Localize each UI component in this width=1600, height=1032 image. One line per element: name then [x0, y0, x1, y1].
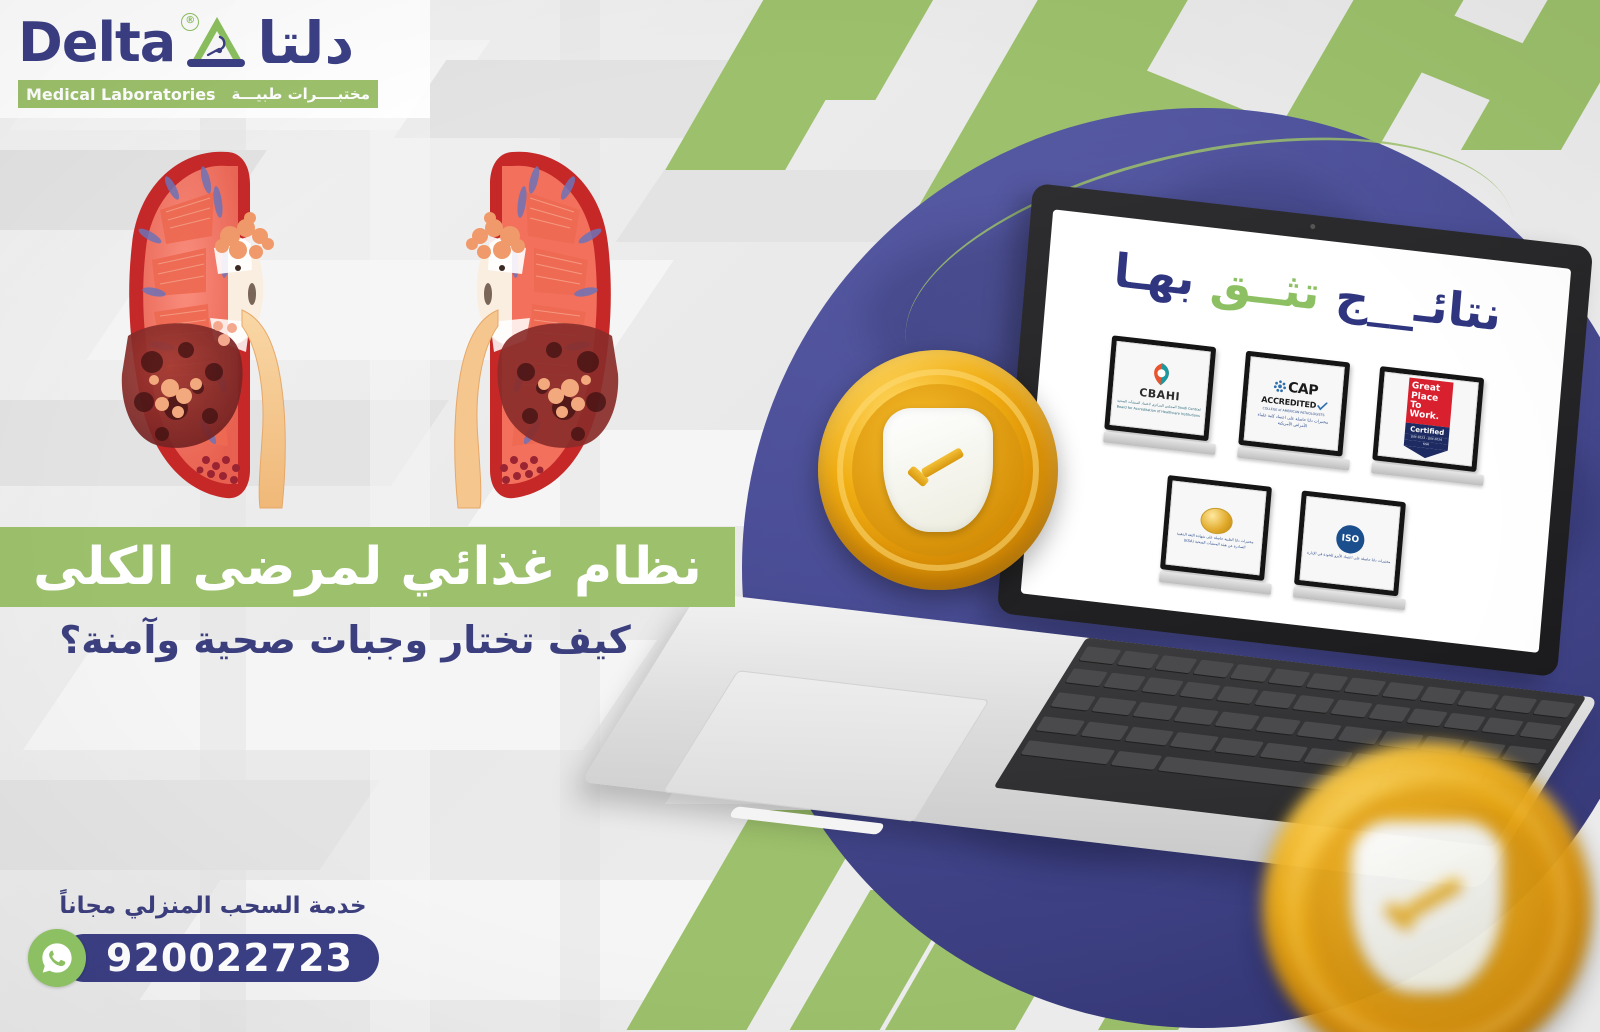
- kidney-cross-section-illustration: [110, 140, 630, 520]
- certificate-frame: ISO مختبرات دلتا حاصلة على اعتماد الأيزو…: [1294, 490, 1406, 596]
- certificate-cap: CAP ACCREDITED COLLEGE of AMERICAN PATHO…: [1237, 351, 1358, 471]
- certificate-iso: ISO مختبرات دلتا حاصلة على اعتماد الأيزو…: [1293, 490, 1414, 610]
- certificate-frame: Great Place To Work. Certified JUN 2023 …: [1372, 366, 1484, 472]
- headline-band: نظام غذائي لمرضى الكلى: [0, 527, 735, 607]
- certificate-great-place-to-work: Great Place To Work. Certified JUN 2023 …: [1371, 366, 1492, 486]
- gold-medal-icon: [1199, 506, 1233, 536]
- certificate-mat: ISO مختبرات دلتا حاصلة على اعتماد الأيزو…: [1299, 496, 1400, 591]
- certificate-mat: CAP ACCREDITED COLLEGE of AMERICAN PATHO…: [1244, 356, 1345, 451]
- certificate-subtitle: المجلس المركزي لاعتماد المنشآت الصحية Sa…: [1116, 399, 1201, 419]
- certificate-mat: CBAHI المجلس المركزي لاعتماد المنشآت الص…: [1110, 341, 1211, 436]
- brand-name-ar: دلتا: [257, 14, 354, 72]
- certificate-mat: Great Place To Work. Certified JUN 2023 …: [1378, 372, 1479, 467]
- certificate-cbahi: CBAHI المجلس المركزي لاعتماد المنشآت الص…: [1103, 335, 1224, 455]
- microscope-in-triangle-icon: ®: [185, 15, 247, 71]
- screen-headline-part1: نتائـ__ج: [1334, 268, 1504, 341]
- page-subtitle: كيف تختار وجبات صحية وآمنة؟: [0, 618, 690, 662]
- iso-certified-icon: ISO: [1335, 524, 1365, 555]
- webcam-icon: [1310, 224, 1315, 230]
- cbahi-logo-icon: [1149, 361, 1173, 388]
- check-icon: [1384, 873, 1469, 942]
- certificate-gold-medal: مختبرات دلتا الطبية حاصلة على شهادة الثق…: [1159, 475, 1280, 595]
- gold-coin-shield-check-icon: [818, 350, 1058, 590]
- certificate-frame: مختبرات دلتا الطبية حاصلة على شهادة الثق…: [1160, 475, 1272, 581]
- check-icon: [907, 445, 969, 495]
- blue-check-icon: [1317, 401, 1328, 411]
- certificate-row-top: CBAHI المجلس المركزي لاعتماد المنشآت الص…: [1048, 329, 1547, 492]
- shield-icon: [883, 408, 993, 533]
- shield-icon: [1351, 821, 1503, 993]
- phone-number: 920022723: [106, 936, 353, 980]
- great-place-to-work-icon: Great Place To Work. Certified JUN 2023 …: [1403, 378, 1454, 461]
- whatsapp-icon[interactable]: [28, 929, 86, 987]
- screen-headline: نتائـ__ج تثــق بهـا: [1046, 235, 1569, 349]
- microscope-icon: [202, 35, 230, 61]
- phone-contact[interactable]: 920022723: [28, 929, 379, 987]
- screen-headline-part3: بهـا: [1112, 243, 1197, 306]
- certificate-subtitle-ar: مختبرات دلتا الطبية حاصلة على شهادة الثق…: [1172, 531, 1257, 552]
- page-title: نظام غذائي لمرضى الكلى: [33, 537, 702, 597]
- gptw-headline: Great Place To Work.: [1406, 378, 1454, 428]
- screen-headline-part2: تثــق: [1209, 254, 1323, 321]
- cap-accredited-icon: [1273, 379, 1287, 393]
- certificate-name: CAP: [1287, 379, 1318, 398]
- laptop-screen: نتائـ__ج تثــق بهـا: [1021, 209, 1572, 653]
- brand-tagline-ar: مختبــــرات طبيـــة: [232, 85, 370, 103]
- certificate-row-bottom: مختبرات دلتا الطبية حاصلة على شهادة الثق…: [1037, 461, 1536, 624]
- certificate-frame: CAP ACCREDITED COLLEGE of AMERICAN PATHO…: [1238, 351, 1350, 457]
- brand-tagline-en: Medical Laboratories: [26, 85, 216, 104]
- contact-note: خدمة السحب المنزلي مجاناً: [48, 893, 378, 919]
- laptop-lid: نتائـ__ج تثــق بهـا: [997, 183, 1594, 677]
- brand-tagline-bar: Medical Laboratories مختبــــرات طبيـــة: [18, 80, 378, 108]
- brand-logo[interactable]: Delta ® دلتا Medical Laboratories مختبــ…: [0, 0, 430, 118]
- certificate-frame: CBAHI المجلس المركزي لاعتماد المنشآت الص…: [1104, 335, 1216, 441]
- poster-canvas: نتائـ__ج تثــق بهـا: [0, 0, 1600, 1032]
- phone-number-pill[interactable]: 920022723: [60, 934, 379, 982]
- brand-name-en: Delta: [18, 16, 175, 70]
- certificate-mat: مختبرات دلتا الطبية حاصلة على شهادة الثق…: [1165, 481, 1266, 576]
- contact-block: خدمة السحب المنزلي مجاناً 920022723: [28, 893, 388, 919]
- iso-label: ISO: [1341, 533, 1359, 545]
